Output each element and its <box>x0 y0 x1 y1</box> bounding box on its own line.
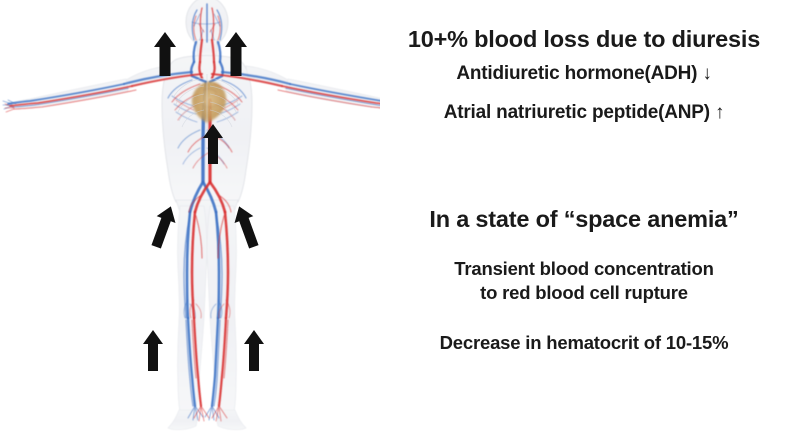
arrow-right-calf <box>244 330 264 371</box>
hematocrit-line: Decrease in hematocrit of 10-15% <box>388 331 780 354</box>
circulatory-system-illustration <box>0 0 380 435</box>
arrow-left-calf <box>143 330 163 371</box>
circulatory-system-figure <box>0 0 380 435</box>
adh-line: Antidiuretic hormone(ADH) ↓ <box>388 62 780 85</box>
headline-blood-loss: 10+% blood loss due to diuresis <box>388 26 780 52</box>
watermark <box>300 372 380 394</box>
arrow-left-thigh <box>147 203 181 250</box>
transient-concentration-line1: Transient blood concentration <box>388 257 780 280</box>
anp-line: Atrial natriuretic peptide(ANP) ↑ <box>388 101 780 124</box>
text-panel: 10+% blood loss due to diuresis Antidiur… <box>380 0 787 435</box>
transient-concentration-line2: to red blood cell rupture <box>388 281 780 304</box>
heading-space-anemia: In a state of “space anemia” <box>388 206 780 232</box>
slide-root: 10+% blood loss due to diuresis Antidiur… <box>0 0 787 435</box>
